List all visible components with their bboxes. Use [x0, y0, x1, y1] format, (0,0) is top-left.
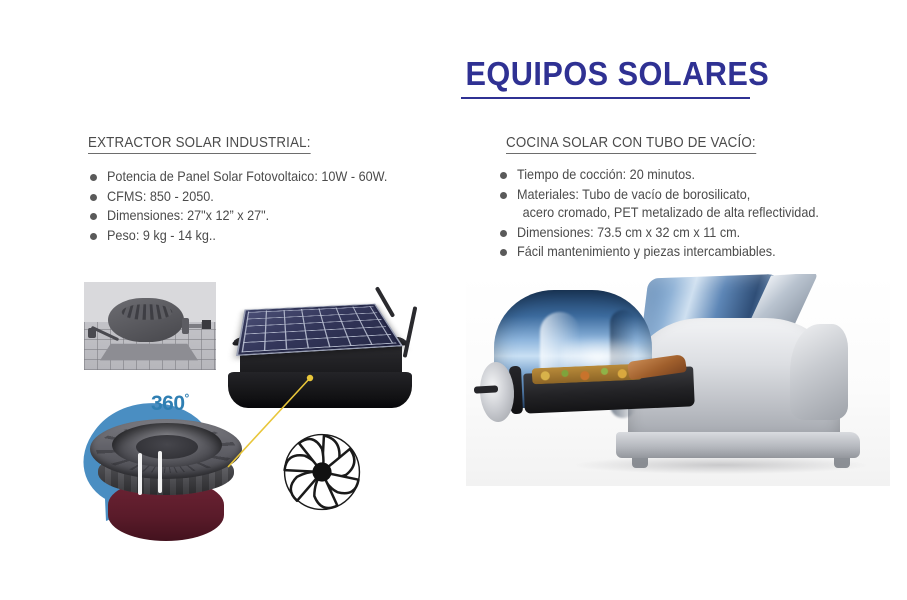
list-item-label: Tiempo de cocción: 20 minutos. [517, 166, 871, 185]
panel-support-leg [403, 306, 418, 358]
list-item-label: Dimensiones: 27"x 12” x 27". [107, 207, 424, 226]
cooker-base-plate [616, 432, 860, 458]
page-title-underline [461, 97, 750, 99]
install-screwdriver-grip [182, 318, 189, 334]
product-shadow [576, 456, 866, 474]
list-item-label: Potencia de Panel Solar Fotovoltaico: 10… [107, 168, 424, 187]
bullet-dot-icon [90, 213, 97, 220]
extractor-cone-throat [136, 435, 198, 459]
fin-marker [158, 451, 162, 493]
page-title: EQUIPOS SOLARES [466, 55, 745, 93]
bullet-dot-icon [500, 172, 507, 179]
list-item: Dimensiones: 73.5 cm x 32 cm x 11 cm. [498, 224, 898, 243]
photovoltaic-cells [242, 306, 397, 353]
list-item-label: Materiales: Tubo de vacío de borosilicat… [517, 186, 871, 205]
list-item: CFMS: 850 - 2050. [88, 188, 448, 207]
list-item-label: Dimensiones: 73.5 cm x 32 cm x 11 cm. [517, 224, 871, 243]
list-item-label: Peso: 9 kg - 14 kg.. [107, 227, 424, 246]
list-item-label: Fácil mantenimiento y piezas intercambia… [517, 243, 871, 262]
solar-cooker-photo [466, 274, 890, 486]
bullet-dot-icon [90, 194, 97, 201]
bullet-dot-icon [500, 192, 507, 199]
end-cap-handle [474, 385, 498, 393]
install-tool-head [88, 328, 96, 338]
poster-page: EQUIPOS SOLARES EXTRACTOR SOLAR INDUSTRI… [0, 0, 907, 600]
cooker-rear-cap [790, 324, 848, 420]
vent-flashing-plate [100, 344, 198, 361]
list-item-sublabel: acero cromado, PET metalizado de alta re… [517, 204, 871, 223]
list-item: Dimensiones: 27"x 12” x 27". [88, 207, 448, 226]
rotation-label: 360° [151, 391, 189, 416]
extractor-housing-lower [228, 372, 412, 408]
install-fastener [202, 320, 211, 329]
bullet-dot-icon [500, 230, 507, 237]
bullet-dot-icon [90, 233, 97, 240]
list-item: Potencia de Panel Solar Fotovoltaico: 10… [88, 168, 448, 187]
rotating-base-diagram: 360° [78, 387, 253, 547]
list-item: Peso: 9 kg - 14 kg.. [88, 227, 448, 246]
list-item: Materiales: Tubo de vacío de borosilicat… [498, 186, 898, 223]
list-item: Tiempo de cocción: 20 minutos. [498, 166, 898, 185]
bullet-dot-icon [500, 249, 507, 256]
left-spec-list: Potencia de Panel Solar Fotovoltaico: 10… [88, 168, 448, 246]
bullet-dot-icon [90, 174, 97, 181]
right-section-heading: COCINA SOLAR CON TUBO DE VACÍO: [506, 135, 756, 154]
fan-impeller-icon [274, 424, 370, 520]
roof-vent-photo [84, 282, 216, 370]
solar-panel-unit [230, 262, 420, 432]
list-item: Fácil mantenimiento y piezas intercambia… [498, 243, 898, 262]
list-item-label: CFMS: 850 - 2050. [107, 188, 424, 207]
fin-marker [138, 453, 142, 495]
left-section-heading: EXTRACTOR SOLAR INDUSTRIAL: [88, 135, 311, 154]
right-spec-list: Tiempo de cocción: 20 minutos. Materiale… [498, 166, 898, 263]
solar-extractor-illustration: 360° [78, 262, 418, 552]
